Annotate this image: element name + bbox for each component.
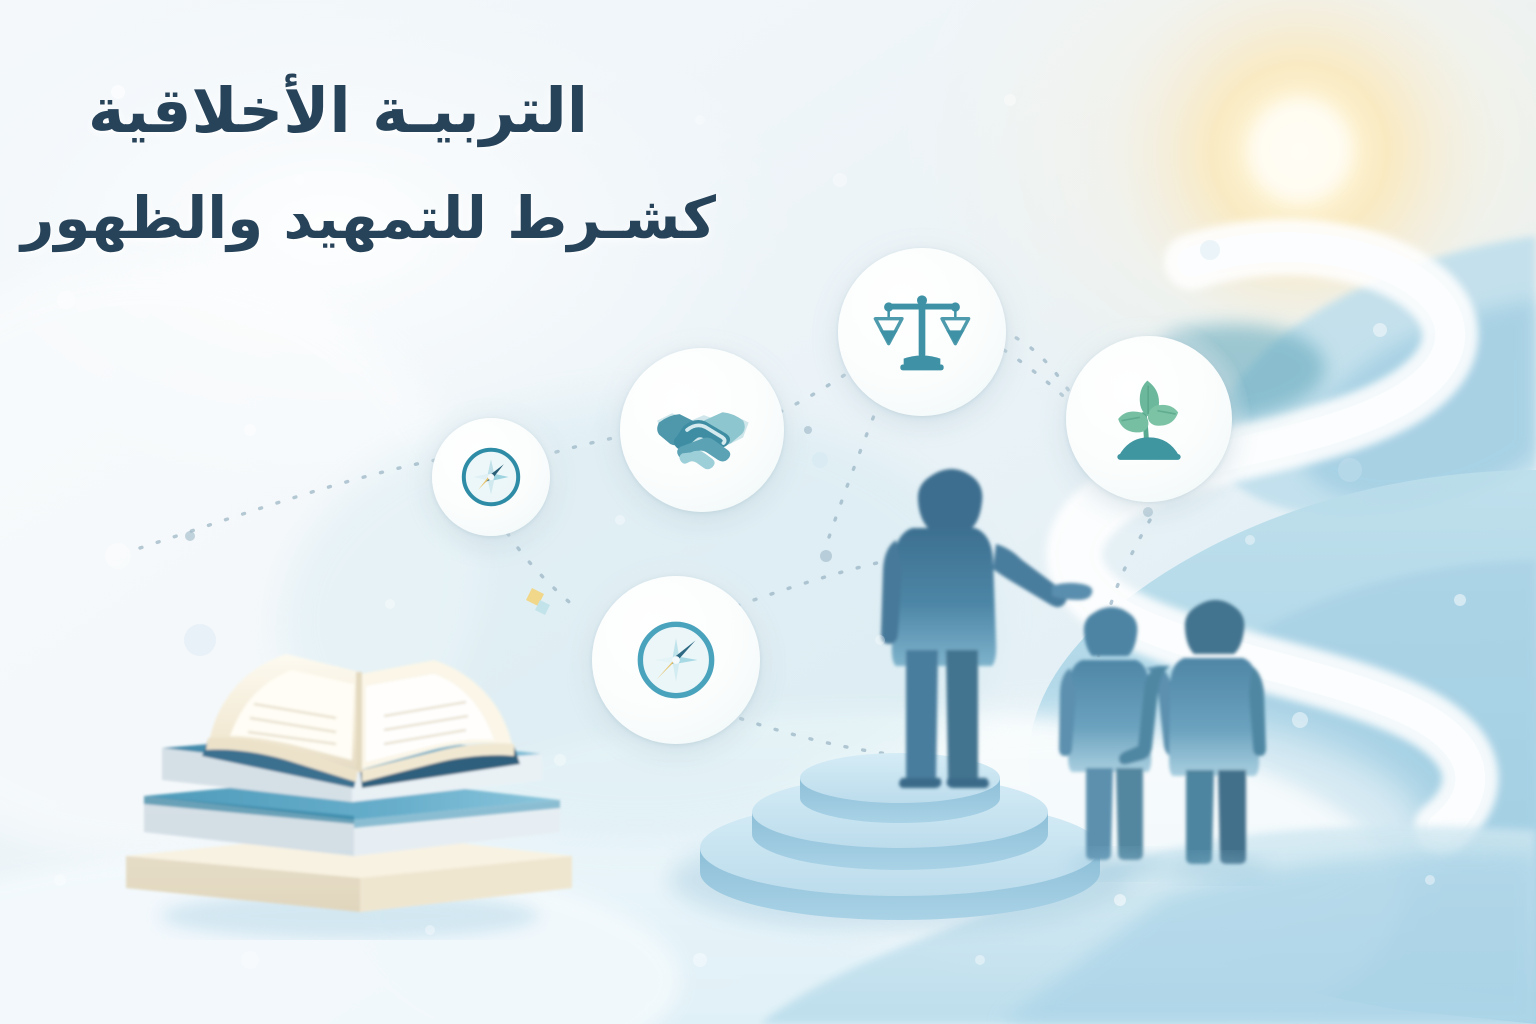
compass-glyph-2 [622, 606, 730, 714]
compass-glyph [451, 437, 531, 517]
stack-of-books [110, 620, 590, 940]
compass-icon[interactable] [432, 418, 550, 536]
handshake-icon[interactable] [620, 348, 784, 512]
compass-icon-2[interactable] [592, 576, 760, 744]
handshake-glyph [646, 374, 758, 486]
seedling-glyph [1099, 369, 1199, 469]
children-figures [1059, 600, 1266, 864]
poster-canvas: التربيـة الأخلاقية كشـرط للتمهيد والظهور [0, 0, 1536, 1024]
scales-glyph [872, 282, 972, 382]
scales-icon[interactable] [838, 248, 1006, 416]
plant-icon[interactable] [1066, 336, 1232, 502]
